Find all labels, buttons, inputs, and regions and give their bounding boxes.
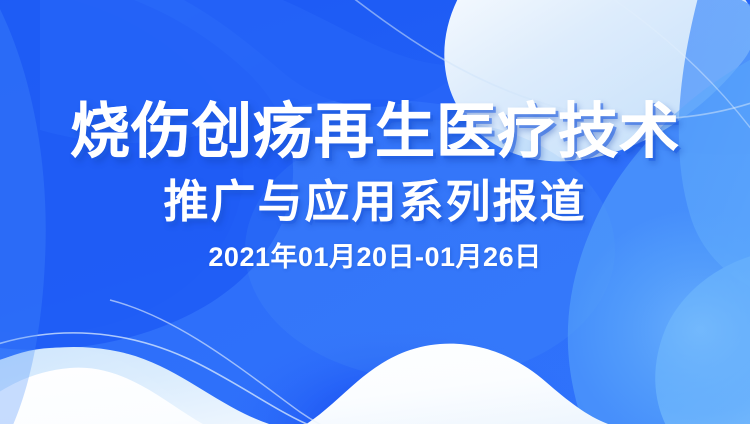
centre-soft-wash	[245, 120, 615, 380]
banner-background-art	[0, 0, 750, 424]
promo-banner: 烧伤创疡再生医疗技术 推广与应用系列报道 2021年01月20日-01月26日	[0, 0, 750, 424]
